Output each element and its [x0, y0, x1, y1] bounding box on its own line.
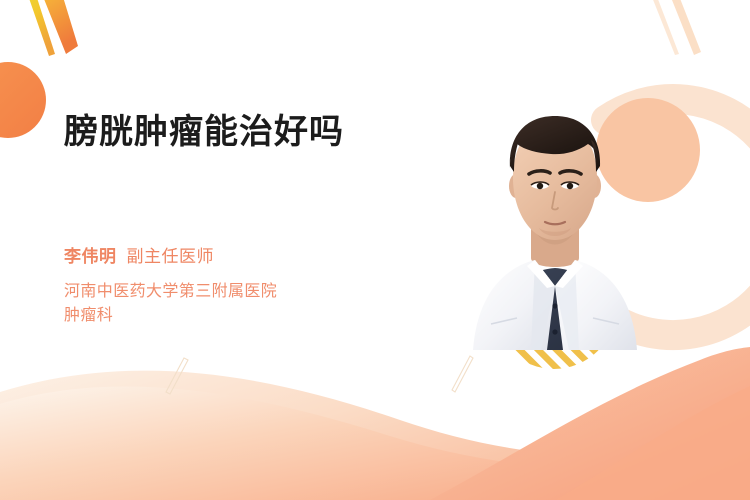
doctor-department: 肿瘤科 — [64, 304, 394, 328]
doctor-affiliation: 河南中医药大学第三附属医院 肿瘤科 — [64, 280, 394, 329]
doctor-hospital: 河南中医药大学第三附属医院 — [64, 280, 394, 304]
doctor-name-line: 李伟明副主任医师 — [64, 248, 394, 267]
video-cover-card: 膀胱肿瘤能治好吗 李伟明副主任医师 河南中医药大学第三附属医院 肿瘤科 — [0, 0, 750, 500]
doctor-name: 李伟明 — [64, 247, 117, 266]
doctor-info-block: 李伟明副主任医师 河南中医药大学第三附属医院 肿瘤科 — [64, 248, 394, 328]
page-title: 膀胱肿瘤能治好吗 — [64, 112, 344, 152]
cover-content: 膀胱肿瘤能治好吗 李伟明副主任医师 河南中医药大学第三附属医院 肿瘤科 — [0, 0, 750, 500]
doctor-professional-title: 副主任医师 — [127, 247, 215, 266]
